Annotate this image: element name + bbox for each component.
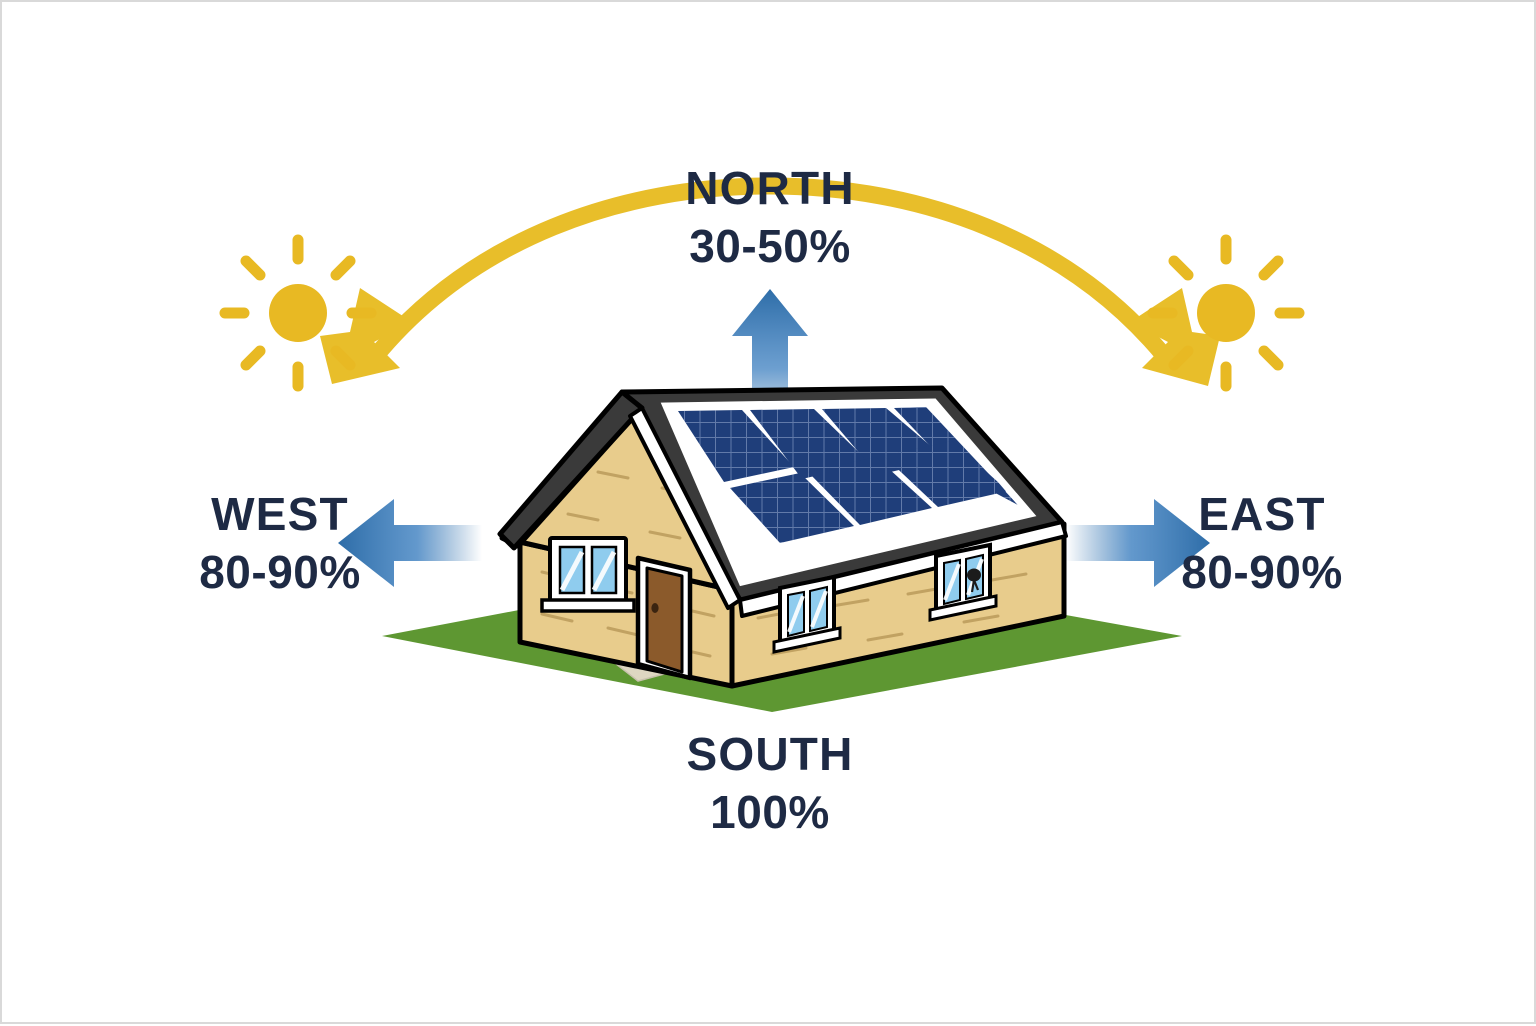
- label-west: WEST 80-90%: [130, 488, 430, 599]
- window-gable-icon: [542, 538, 634, 611]
- label-north-value: 30-50%: [610, 220, 930, 272]
- label-east: EAST 80-90%: [1112, 488, 1412, 599]
- label-south-value: 100%: [610, 786, 930, 838]
- label-west-value: 80-90%: [130, 546, 430, 598]
- label-north: NORTH 30-50%: [610, 162, 930, 273]
- sun-icon-left: [225, 240, 371, 386]
- label-west-direction: WEST: [130, 488, 430, 540]
- window-east-1-icon: [774, 577, 840, 652]
- diagram-canvas: NORTH 30-50% SOUTH 100% WEST 80-90% EAST…: [0, 0, 1536, 1024]
- label-north-direction: NORTH: [610, 162, 930, 214]
- window-east-2-icon: [930, 545, 996, 620]
- label-south-direction: SOUTH: [610, 728, 930, 780]
- house-illustration: [382, 388, 1182, 712]
- door-icon: [638, 558, 690, 678]
- label-south: SOUTH 100%: [610, 728, 930, 839]
- label-east-value: 80-90%: [1112, 546, 1412, 598]
- sun-icon-right: [1153, 240, 1299, 386]
- label-east-direction: EAST: [1112, 488, 1412, 540]
